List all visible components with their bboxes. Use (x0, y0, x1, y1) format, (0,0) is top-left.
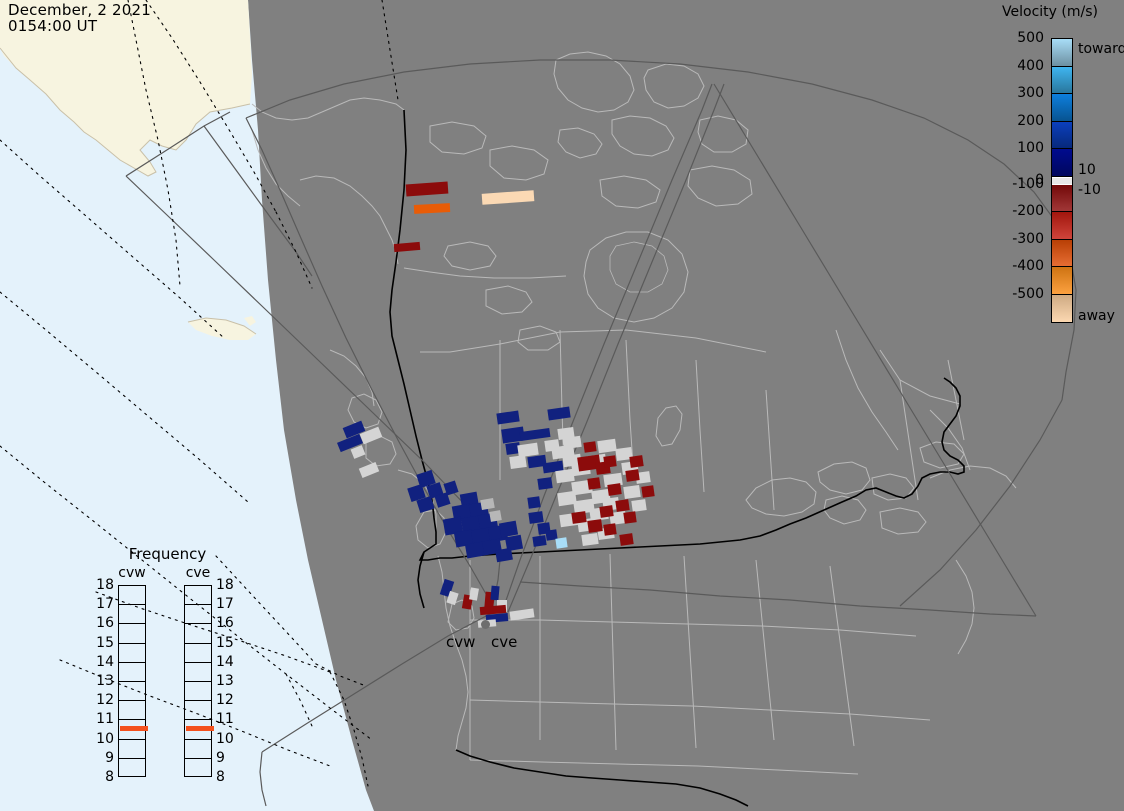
frequency-tick-cve-18: 18 (216, 579, 234, 591)
velocity-band-4 (1052, 149, 1072, 177)
velocity-band-5 (1052, 177, 1072, 185)
velocity-cell (571, 511, 586, 524)
velocity-tick--500: -500 (1012, 288, 1044, 300)
frequency-tick-cvw-12: 12 (90, 694, 114, 706)
velocity-tick--100: -100 (1012, 178, 1044, 190)
frequency-tick-cvw-14: 14 (90, 656, 114, 668)
velocity-band-10 (1052, 295, 1072, 323)
velocity-cell (603, 455, 616, 468)
velocity-tick-200: 200 (1017, 115, 1044, 127)
velocity-cell (527, 496, 540, 509)
frequency-segment-cvw-1 (119, 605, 145, 624)
frequency-segment-cve-2 (185, 624, 211, 643)
frequency-segment-cve-5 (185, 682, 211, 701)
velocity-cell (603, 523, 616, 536)
frequency-tick-cve-14: 14 (216, 656, 234, 668)
velocity-band-2 (1052, 94, 1072, 122)
velocity-cell (625, 469, 639, 482)
velocity-legend: Velocity (m/s) 5004003002001000-100-200-… (975, 0, 1124, 340)
velocity-cell (623, 511, 636, 524)
velocity-tick--400: -400 (1012, 260, 1044, 272)
frequency-column-label-cvw: cvw (110, 565, 154, 581)
velocity-band-9 (1052, 267, 1072, 295)
velocity-cell (607, 483, 621, 496)
velocity-cell (489, 510, 502, 522)
frequency-segment-cve-0 (185, 586, 211, 605)
velocity-band-3 (1052, 122, 1072, 150)
frequency-segment-cve-8 (185, 740, 211, 759)
frequency-tick-cve-15: 15 (216, 637, 234, 649)
velocity-cell (532, 535, 546, 547)
frequency-legend-title: Frequency (90, 545, 245, 563)
velocity-label-lower-threshold: -10 (1078, 184, 1101, 196)
frequency-marker-cvw (120, 726, 148, 731)
frequency-segment-cvw-4 (119, 663, 145, 682)
velocity-cell (615, 499, 629, 512)
frequency-tick-cvw-17: 17 (90, 598, 114, 610)
velocity-cell (623, 485, 641, 499)
frequency-segment-cvw-6 (119, 701, 145, 720)
frequency-bar-cve (184, 585, 212, 777)
timestamp-time: 0154:00 UT (8, 17, 97, 35)
frequency-segment-cve-6 (185, 701, 211, 720)
frequency-segment-cvw-2 (119, 624, 145, 643)
frequency-tick-cvw-11: 11 (90, 713, 114, 725)
velocity-cell (629, 455, 643, 468)
radar-label-cve: cve (491, 633, 517, 651)
velocity-legend-title: Velocity (m/s) (980, 4, 1120, 20)
velocity-cell (537, 477, 552, 490)
frequency-tick-cve-9: 9 (216, 752, 225, 764)
frequency-segment-cve-9 (185, 759, 211, 778)
frequency-segment-cve-1 (185, 605, 211, 624)
velocity-tick--200: -200 (1012, 205, 1044, 217)
frequency-tick-cvw-18: 18 (90, 579, 114, 591)
frequency-segment-cve-4 (185, 663, 211, 682)
frequency-bar-cvw (118, 585, 146, 777)
velocity-cell (581, 533, 598, 546)
radar-map-viewer: cvw cve December, 2 20210154:00 UT Veloc… (0, 0, 1124, 811)
velocity-cell (557, 427, 574, 440)
velocity-band-1 (1052, 67, 1072, 95)
frequency-segment-cvw-8 (119, 740, 145, 759)
frequency-tick-cve-11: 11 (216, 713, 234, 725)
velocity-label-toward: toward (1078, 43, 1124, 55)
velocity-band-8 (1052, 240, 1072, 268)
frequency-tick-cve-10: 10 (216, 733, 234, 745)
national-border (390, 110, 964, 806)
velocity-cell (414, 203, 450, 214)
frequency-tick-cve-16: 16 (216, 617, 234, 629)
timestamp: December, 2 20210154:00 UT (8, 2, 151, 34)
frequency-marker-cve (186, 726, 214, 731)
velocity-tick-100: 100 (1017, 142, 1044, 154)
velocity-tick-400: 400 (1017, 60, 1044, 72)
frequency-tick-cvw-10: 10 (90, 733, 114, 745)
frequency-tick-cve-12: 12 (216, 694, 234, 706)
frequency-segment-cvw-9 (119, 759, 145, 778)
velocity-cell (555, 537, 567, 548)
frequency-tick-cve-8: 8 (216, 771, 225, 783)
velocity-cell (583, 441, 596, 453)
velocity-colorbar (1051, 38, 1073, 323)
velocity-cell (528, 511, 543, 524)
frequency-segment-cvw-0 (119, 586, 145, 605)
velocity-cell (587, 477, 600, 490)
velocity-tick-300: 300 (1017, 87, 1044, 99)
velocity-label-upper-threshold: 10 (1078, 164, 1096, 176)
velocity-cell (544, 439, 559, 452)
velocity-cell (631, 499, 646, 512)
frequency-tick-cvw-8: 8 (90, 771, 114, 783)
frequency-tick-cve-13: 13 (216, 675, 234, 687)
coastlines (252, 52, 1016, 774)
frequency-tick-cve-17: 17 (216, 598, 234, 610)
frequency-segment-cvw-3 (119, 644, 145, 663)
velocity-cell (597, 439, 616, 453)
velocity-band-0 (1052, 39, 1072, 67)
velocity-cell (509, 455, 527, 469)
frequency-tick-cvw-9: 9 (90, 752, 114, 764)
velocity-cell (641, 485, 654, 498)
velocity-cell (490, 586, 499, 601)
radar-label-cvw: cvw (446, 633, 475, 651)
velocity-cell (587, 519, 603, 533)
velocity-cell (619, 533, 633, 546)
frequency-tick-cvw-16: 16 (90, 617, 114, 629)
frequency-tick-cvw-13: 13 (90, 675, 114, 687)
frequency-segment-cve-3 (185, 644, 211, 663)
frequency-legend: Frequency cvw cve 18171615141312111098 1… (90, 545, 245, 790)
velocity-label-away: away (1078, 310, 1115, 322)
frequency-column-label-cve: cve (176, 565, 220, 581)
velocity-tick-500: 500 (1017, 32, 1044, 44)
frequency-segment-cvw-5 (119, 682, 145, 701)
velocity-tick--300: -300 (1012, 233, 1044, 245)
radar-site-dot (481, 620, 490, 629)
velocity-band-6 (1052, 185, 1072, 213)
velocity-cell (599, 505, 613, 518)
frequency-tick-cvw-15: 15 (90, 637, 114, 649)
velocity-band-7 (1052, 212, 1072, 240)
